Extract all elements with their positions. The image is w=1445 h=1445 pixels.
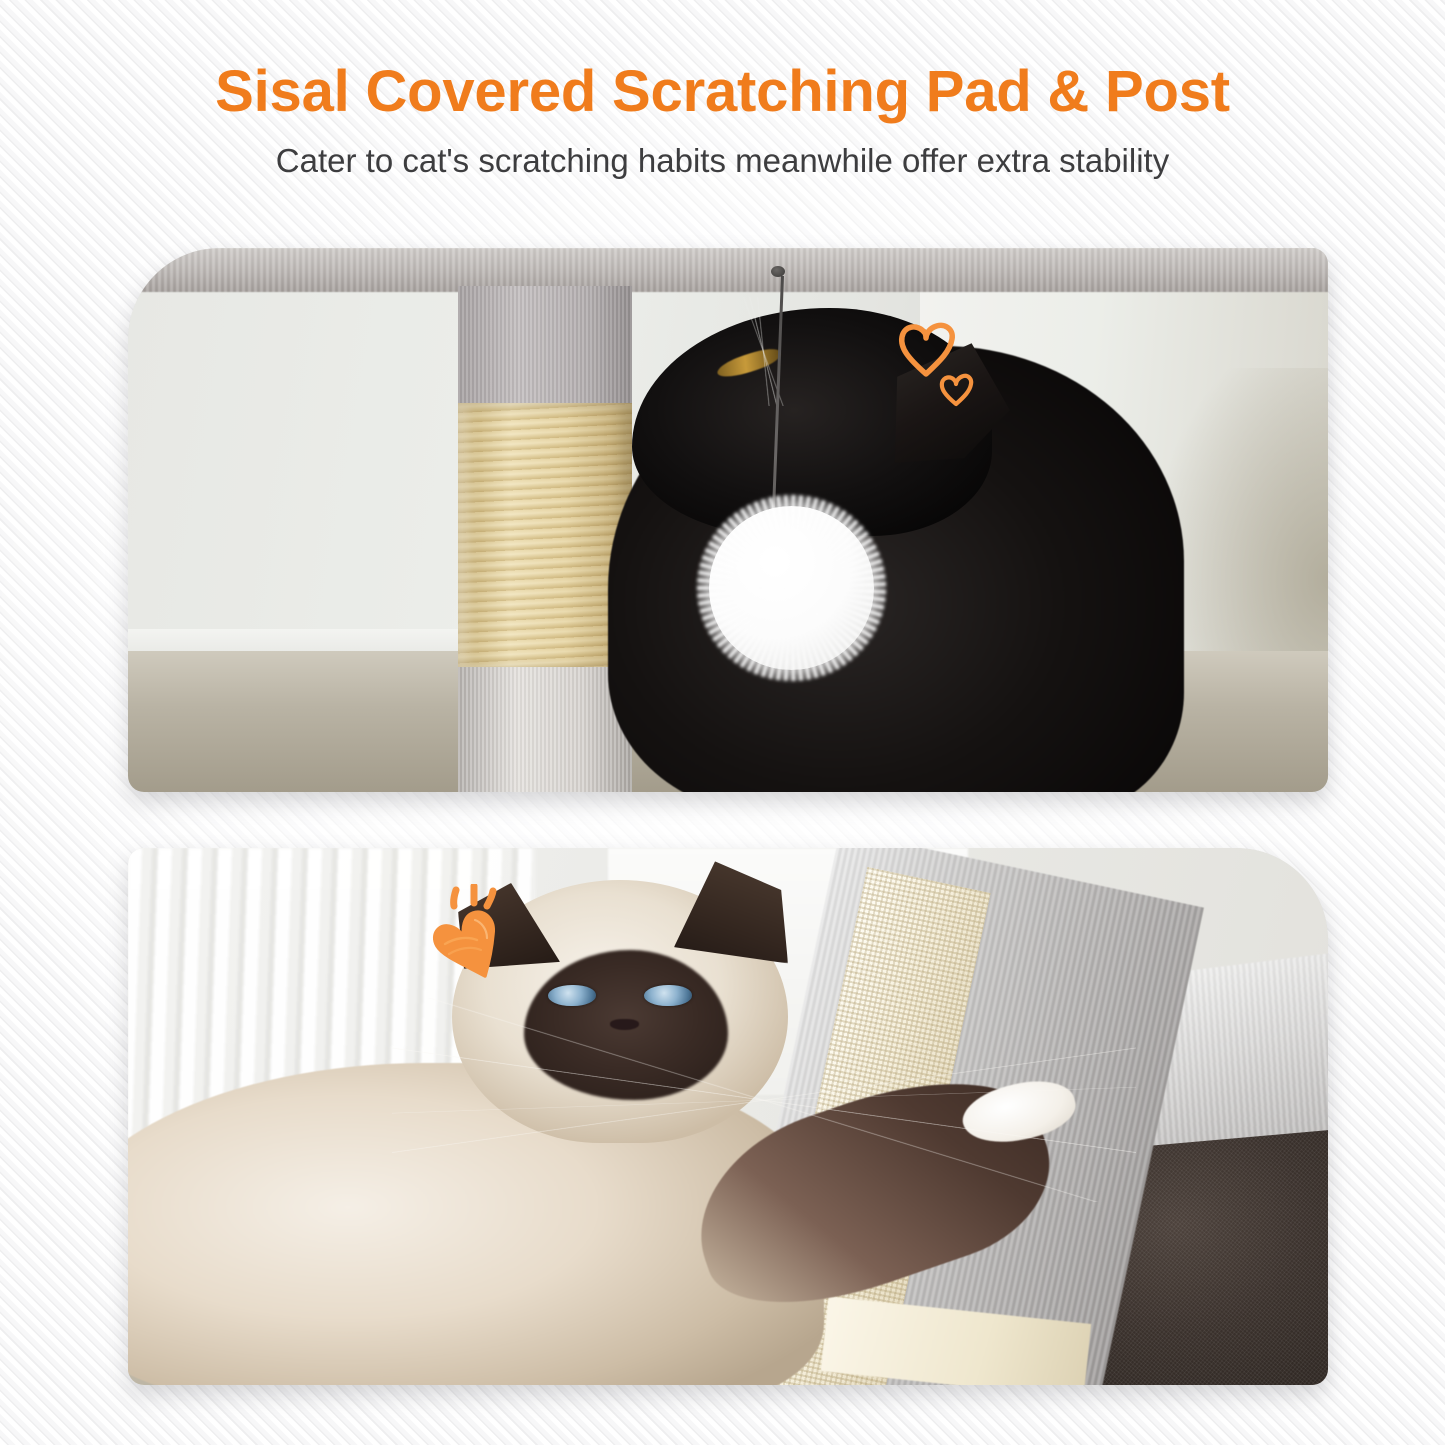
photo-scene-top — [128, 248, 1328, 792]
ragdoll-cat-eye-right — [644, 985, 692, 1006]
ragdoll-cat-eye-left — [548, 985, 596, 1006]
sisal-rope-wrap — [458, 403, 632, 670]
plush-post-base — [458, 667, 632, 792]
product-photo-scratching-ramp — [128, 848, 1328, 1385]
page-subtitle: Cater to cat's scratching habits meanwhi… — [0, 143, 1445, 179]
page-background: Sisal Covered Scratching Pad & Post Cate… — [0, 0, 1445, 1445]
product-photo-scratching-post — [128, 248, 1328, 792]
white-pompom-toy — [709, 506, 875, 669]
header: Sisal Covered Scratching Pad & Post Cate… — [0, 0, 1445, 179]
page-title: Sisal Covered Scratching Pad & Post — [0, 62, 1445, 123]
ragdoll-cat-nose — [610, 1019, 639, 1030]
photo-scene-bottom — [128, 848, 1328, 1385]
plush-post-collar — [458, 286, 632, 406]
plush-top-shelf — [128, 248, 1328, 292]
